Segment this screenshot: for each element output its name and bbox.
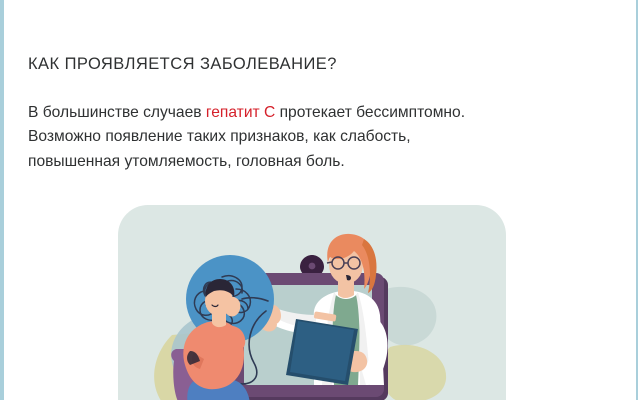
slide-canvas: КАК ПРОЯВЛЯЕТСЯ ЗАБОЛЕВАНИЕ? В большинст… [0, 0, 640, 400]
telemedicine-consultation-illustration [118, 205, 506, 400]
body-line-3: повышенная утомляемость, головная боль. [28, 150, 588, 175]
body-line-1-after: протекает бессимптомно. [275, 104, 465, 121]
left-accent-rule [0, 0, 4, 400]
page-title: КАК ПРОЯВЛЯЕТСЯ ЗАБОЛЕВАНИЕ? [28, 54, 588, 75]
right-accent-rule [636, 0, 638, 400]
illustration-panel [118, 205, 506, 400]
text-block: КАК ПРОЯВЛЯЕТСЯ ЗАБОЛЕВАНИЕ? В большинст… [28, 54, 588, 174]
highlight-hepatitis-c: гепатит C [206, 104, 275, 121]
body-copy: В большинстве случаев гепатит C протекае… [28, 75, 588, 175]
body-line-1: В большинстве случаев гепатит C протекае… [28, 101, 588, 126]
body-line-2: Возможно появление таких признаков, как … [28, 125, 588, 150]
body-line-1-before: В большинстве случаев [28, 104, 206, 121]
